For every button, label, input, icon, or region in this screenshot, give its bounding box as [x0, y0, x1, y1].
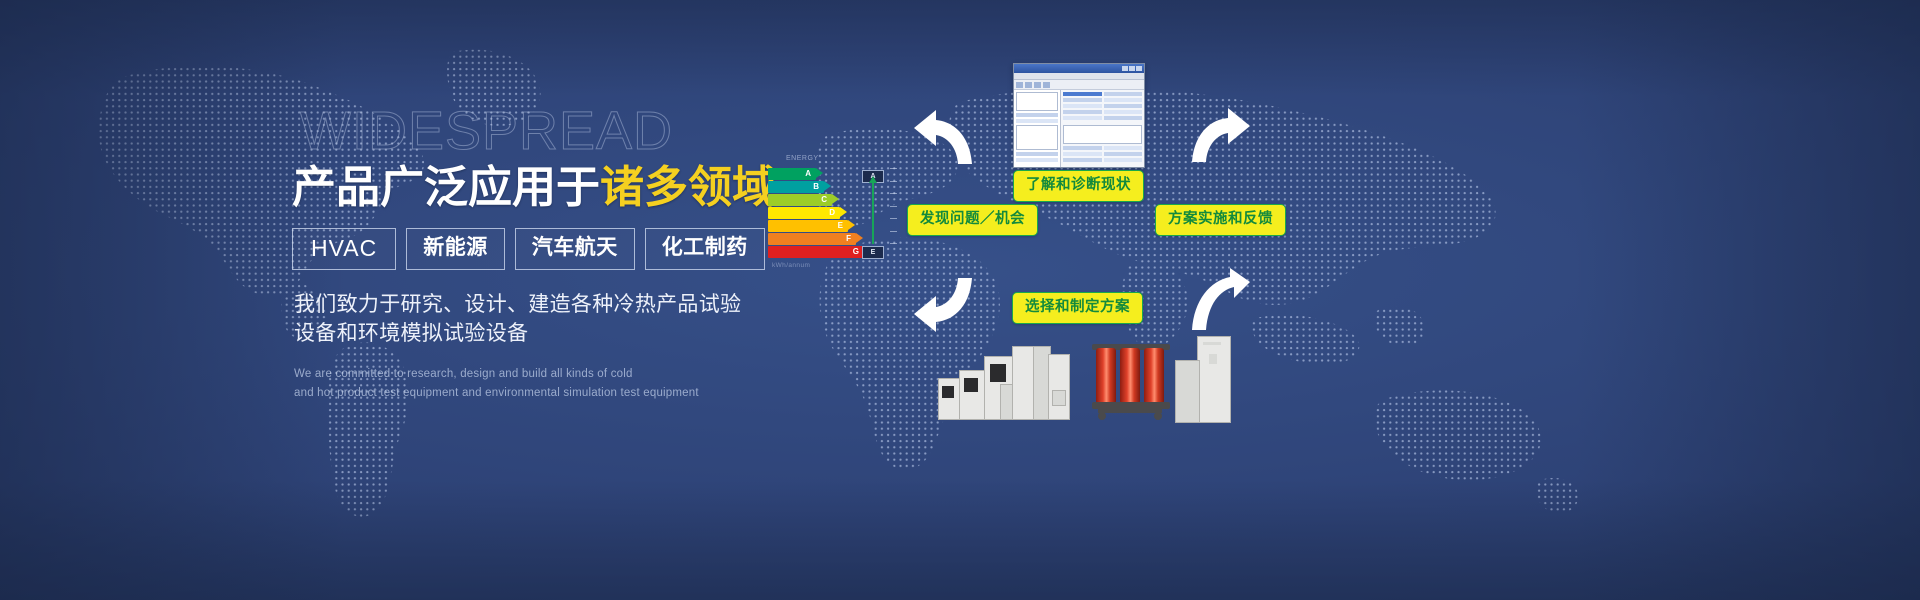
right-pane-row — [1063, 116, 1102, 120]
energy-scale-mark-e: E — [862, 246, 884, 259]
toolbar-icon-1[interactable] — [1016, 82, 1023, 88]
window-toolbar[interactable] — [1014, 80, 1144, 90]
right-pane-row-selected — [1063, 92, 1102, 96]
window-body — [1014, 90, 1144, 168]
energy-grade-d: D — [829, 209, 835, 217]
hero-description-en: We are committed to research, design and… — [294, 365, 762, 402]
left-pane-block-1 — [1016, 92, 1058, 111]
hero-description-en-line1: We are committed to research, design and… — [294, 365, 762, 384]
toolbar-icon-4[interactable] — [1043, 82, 1050, 88]
energy-bar-e: E — [768, 220, 848, 232]
pill-diagnose-status[interactable]: 了解和诊断现状 — [1013, 170, 1144, 202]
hero-copy: WIDESPREAD 产品广泛应用于诸多领域 HVAC 新能源 汽车航天 化工制… — [292, 104, 762, 403]
right-pane-grid — [1063, 92, 1142, 122]
right-pane-row — [1104, 104, 1143, 108]
right-pane-block-1 — [1063, 125, 1142, 144]
right-pane-col-4 — [1104, 146, 1143, 164]
right-pane-row — [1104, 98, 1143, 102]
energy-bar-d: D — [768, 207, 840, 219]
window-right-pane[interactable] — [1061, 90, 1144, 168]
hero-description-en-line2: and hot product test equipment and envir… — [294, 384, 762, 403]
industry-tag-hvac[interactable]: HVAC — [292, 228, 396, 270]
window-menubar[interactable] — [1014, 73, 1144, 80]
hero-description-cn-line1: 我们致力于研究、设计、建造各种冷热产品试验 — [294, 290, 762, 320]
energy-grade-b: B — [813, 183, 819, 191]
left-pane-row — [1016, 119, 1058, 123]
ghost-headline: WIDESPREAD — [300, 104, 762, 158]
right-pane-row — [1104, 116, 1143, 120]
right-pane-row — [1063, 110, 1102, 114]
energy-bar-g: G — [768, 246, 864, 258]
window-left-pane[interactable] — [1014, 90, 1061, 168]
left-pane-row — [1016, 152, 1058, 156]
control-cabinet-photo — [1175, 336, 1229, 421]
industry-tag-list: HVAC 新能源 汽车航天 化工制药 — [292, 228, 762, 270]
energy-grade-f: F — [846, 235, 851, 243]
energy-bar-a: A — [768, 168, 816, 180]
right-pane-row — [1063, 104, 1102, 108]
pill-select-plan[interactable]: 选择和制定方案 — [1012, 292, 1143, 324]
right-pane-row — [1063, 152, 1102, 156]
banner-vignette — [0, 0, 1920, 600]
right-pane-row — [1063, 158, 1102, 162]
right-pane-row — [1104, 152, 1143, 156]
hero-description-cn: 我们致力于研究、设计、建造各种冷热产品试验 设备和环境模拟试验设备 — [294, 290, 762, 350]
hero-description-cn-line2: 设备和环境模拟试验设备 — [294, 319, 762, 349]
industry-tag-automotive-aerospace[interactable]: 汽车航天 — [515, 228, 635, 270]
right-pane-row — [1104, 110, 1143, 114]
right-pane-row — [1063, 98, 1102, 102]
dry-type-transformer-photo — [1090, 340, 1172, 420]
energy-bar-c: C — [768, 194, 832, 206]
right-pane-col-2 — [1104, 92, 1143, 122]
energy-label-ticks — [890, 168, 906, 268]
right-pane-col-1 — [1063, 92, 1102, 122]
close-icon[interactable] — [1136, 66, 1142, 71]
headline-yellow: 诸多领域 — [600, 163, 776, 212]
toolbar-icon-3[interactable] — [1034, 82, 1041, 88]
right-pane-row — [1104, 92, 1143, 96]
application-screenshot — [1013, 63, 1145, 168]
window-titlebar — [1014, 64, 1144, 73]
minimize-icon[interactable] — [1122, 66, 1128, 71]
variable-frequency-drives-photo — [938, 340, 1068, 420]
right-pane-row — [1104, 146, 1143, 150]
left-pane-block-2 — [1016, 125, 1058, 150]
energy-grade-g: G — [853, 248, 859, 256]
right-pane-row — [1063, 146, 1102, 150]
right-pane-col-3 — [1063, 146, 1102, 164]
headline-white: 产品广泛应用于 — [292, 163, 600, 212]
left-pane-row — [1016, 158, 1058, 162]
energy-label-scale: A E — [860, 168, 890, 268]
left-pane-row — [1016, 113, 1058, 117]
energy-bar-b: B — [768, 181, 824, 193]
page-title: 产品广泛应用于诸多领域 — [292, 162, 762, 214]
energy-scale-arrow-icon — [872, 182, 874, 244]
energy-bar-f: F — [768, 233, 856, 245]
right-pane-grid-2 — [1063, 146, 1142, 164]
energy-grade-e: E — [838, 222, 843, 230]
maximize-icon[interactable] — [1129, 66, 1135, 71]
pill-discover-problems[interactable]: 发现问题／机会 — [907, 204, 1038, 236]
energy-label-caption-top: ENERGY — [786, 155, 819, 162]
hero-banner: WIDESPREAD 产品广泛应用于诸多领域 HVAC 新能源 汽车航天 化工制… — [0, 0, 1920, 600]
energy-grade-c: C — [821, 196, 827, 204]
industry-tag-chemical-pharma[interactable]: 化工制药 — [645, 228, 765, 270]
energy-grade-a: A — [805, 170, 811, 178]
pill-implement-feedback[interactable]: 方案实施和反馈 — [1155, 204, 1286, 236]
right-pane-row — [1104, 158, 1143, 162]
toolbar-icon-2[interactable] — [1025, 82, 1032, 88]
industry-tag-new-energy[interactable]: 新能源 — [406, 228, 505, 270]
energy-label-caption-bottom: kWh/annum — [772, 262, 810, 269]
